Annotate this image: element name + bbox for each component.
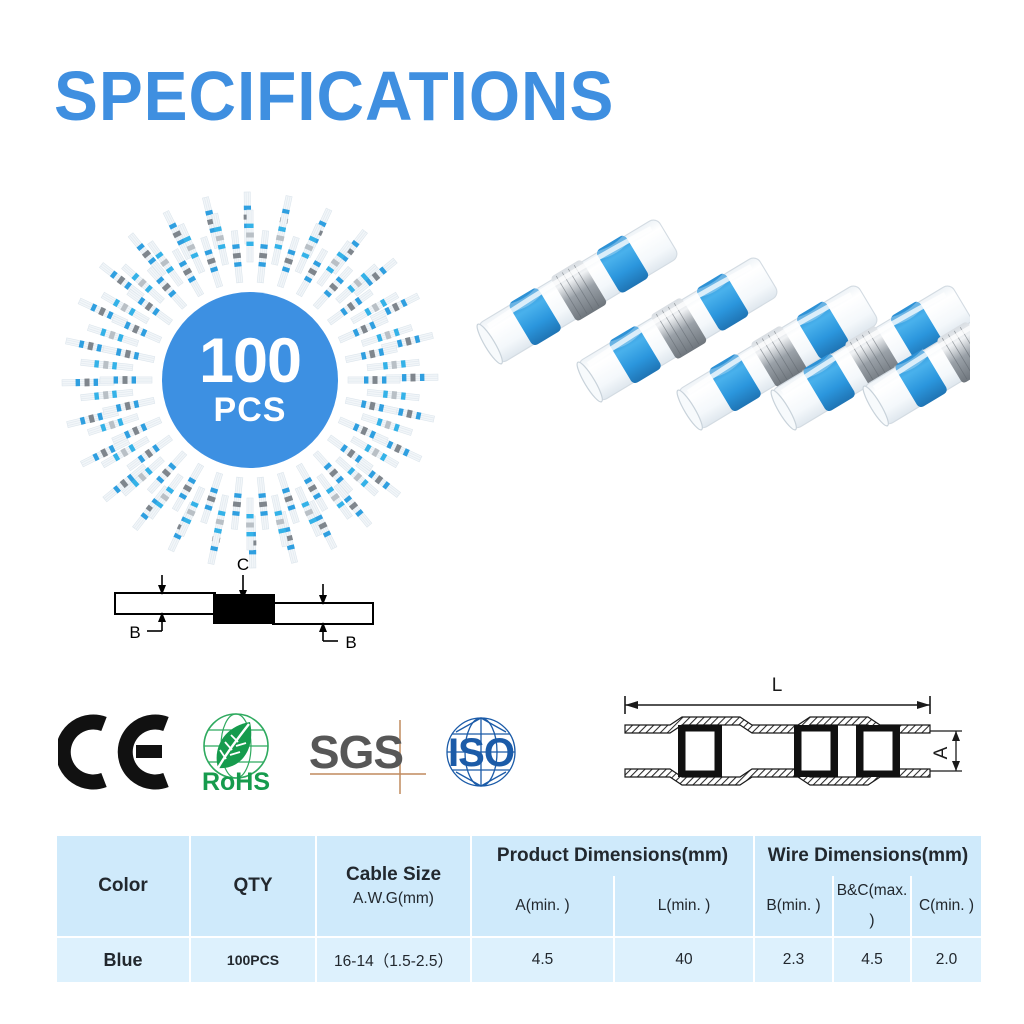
cell-wire-bc: 4.5: [833, 937, 911, 982]
sgs-logo: SGS: [308, 702, 428, 802]
quantity-badge: 100 PCS: [162, 292, 338, 468]
header-product-dimensions: Product Dimensions(mm): [471, 836, 754, 876]
badge-count: 100: [199, 332, 301, 390]
page-title: SPECIFICATIONS: [54, 58, 614, 134]
header-wire-dimensions: Wire Dimensions(mm): [754, 836, 981, 876]
rohs-logo: RoHS: [186, 702, 286, 802]
label-b-right: B: [345, 633, 356, 652]
cell-product-l: 40: [614, 937, 754, 982]
wire-bc-dimension-diagram: C B B: [95, 552, 395, 657]
cell-product-a: 4.5: [471, 937, 614, 982]
table-row: Blue 100PCS 16-14（1.5-2.5） 4.5 40 2.3 4.…: [57, 937, 981, 982]
iso-label: ISO: [448, 731, 514, 775]
header-product-l: L(min. ): [614, 876, 754, 937]
header-qty: QTY: [190, 836, 316, 937]
cell-cable-size: 16-14（1.5-2.5）: [316, 937, 471, 982]
label-c: C: [237, 555, 249, 574]
product-photo: [470, 215, 970, 585]
cell-wire-c: 2.0: [911, 937, 981, 982]
specifications-page: SPECIFICATIONS: [0, 0, 1024, 1024]
label-a: A: [931, 746, 952, 759]
header-wire-b: B(min. ): [754, 876, 833, 937]
header-wire-c: C(min. ): [911, 876, 981, 937]
label-b-left: B: [129, 623, 140, 642]
cell-wire-b: 2.3: [754, 937, 833, 982]
connector-burst-graphic: 100 PCS: [55, 185, 445, 575]
rohs-label: RoHS: [202, 768, 270, 796]
product-la-dimension-diagram: L A: [600, 665, 975, 800]
iso-logo: ISO: [426, 702, 536, 802]
label-l: L: [772, 675, 783, 696]
cell-qty: 100PCS: [190, 937, 316, 982]
header-color: Color: [57, 836, 190, 937]
specification-table: Color QTY Cable Size A.W.G(mm) Product D…: [57, 836, 981, 982]
header-cable-size: Cable Size A.W.G(mm): [316, 836, 471, 937]
ce-logo: [58, 702, 178, 802]
badge-unit: PCS: [214, 392, 287, 428]
header-product-a: A(min. ): [471, 876, 614, 937]
sgs-label: SGS: [309, 726, 403, 778]
cell-color: Blue: [57, 937, 190, 982]
header-wire-bc: B&C(max. ): [833, 876, 911, 937]
certification-logos: RoHS SGS I: [58, 702, 538, 802]
table-header-row: Color QTY Cable Size A.W.G(mm) Product D…: [57, 836, 981, 876]
